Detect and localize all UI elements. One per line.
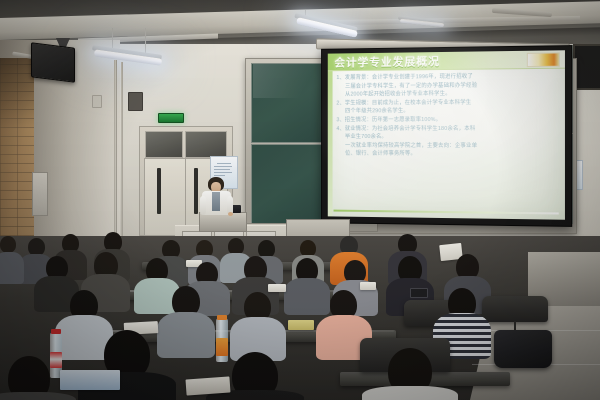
notebook-paper	[360, 282, 376, 290]
slide-line: 毕业生700余名。	[336, 133, 557, 142]
door-handle-slot-right[interactable]	[194, 168, 198, 214]
wall-junction-box	[92, 95, 102, 108]
notice-line	[214, 169, 230, 170]
notebook-paper	[268, 284, 286, 292]
wall-electrical-plate	[32, 172, 48, 216]
presenter-inner-top	[212, 192, 220, 211]
door-window-left	[145, 131, 183, 158]
classroom-photo-scene: 会计学专业发展概况 1、发展背景：会计学专业创建于1996年，现进行招收了 三届…	[0, 0, 600, 400]
ceiling-mounted-loudspeaker	[31, 42, 75, 82]
notice-line	[214, 172, 232, 173]
wall-conduit-left	[114, 60, 117, 260]
notice-line	[214, 166, 232, 167]
door-window-right	[185, 131, 227, 158]
lectern	[199, 212, 247, 232]
chair-back[interactable]	[482, 296, 548, 322]
slide-left-margin	[328, 70, 333, 216]
emergency-exit-sign	[158, 113, 184, 123]
university-logo	[527, 52, 560, 67]
bottle-label	[216, 338, 228, 356]
wall-sensor-box	[128, 92, 143, 111]
student-head	[0, 236, 16, 253]
presentation-slide[interactable]: 会计学专业发展概况 1、发展背景：会计学专业创建于1996年，现进行招收了 三届…	[328, 50, 565, 219]
slide-title: 会计学专业发展概况	[334, 53, 440, 70]
slide-body: 1、发展背景：会计学专业创建于1996年，现进行招收了 三届会计学专科学生，有了…	[336, 72, 557, 160]
door-handle-slot-left[interactable]	[157, 168, 161, 214]
wall-mounted-monitor	[573, 44, 600, 90]
bottle-label	[50, 352, 62, 368]
slide-line: 4、就业情况：为社会培养会计学专科学生180余名，本科	[336, 124, 557, 133]
presenter-arm-left	[200, 196, 206, 215]
slide-line: 位、银行、会计师事务所等。	[336, 150, 557, 159]
wall-conduit-right	[121, 62, 123, 258]
notebook-paper-front	[60, 370, 120, 390]
student-torso	[0, 252, 24, 284]
mobile-phone[interactable]	[410, 288, 428, 298]
slide-bottom-rule	[334, 210, 559, 215]
student-torso-foreground	[362, 386, 458, 400]
notice-line	[214, 175, 225, 176]
notice-line	[217, 163, 231, 164]
backpack[interactable]	[494, 330, 552, 368]
student-torso	[284, 278, 330, 315]
brick-column-shading	[0, 58, 34, 263]
slide-line: 3、招生情况：历年第一志愿录取率100%。	[336, 116, 557, 125]
student-torso	[157, 312, 215, 358]
student-torso-foreground	[0, 392, 76, 400]
bottle-cap	[217, 315, 227, 320]
notebook-paper	[288, 320, 314, 330]
presenter-hand	[228, 212, 233, 216]
bottle-cap	[51, 329, 61, 334]
notebook-paper-front	[185, 376, 230, 395]
